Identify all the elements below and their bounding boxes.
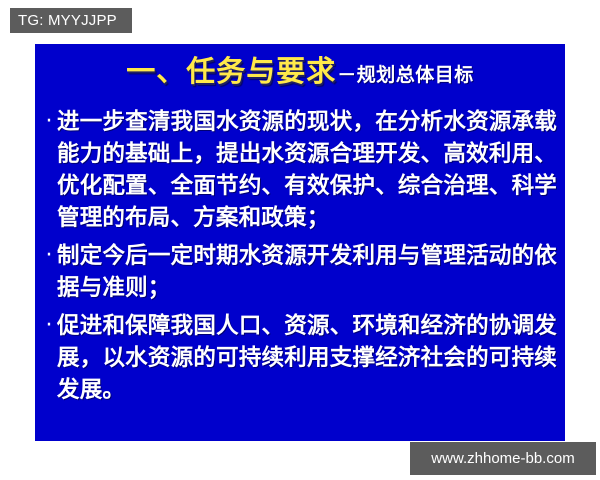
bullet-text: 进一步查清我国水资源的现状，在分析水资源承载能力的基础上，提出水资源合理开发、高… xyxy=(57,106,557,234)
slide-title-main: 一、任务与要求 xyxy=(126,56,336,88)
bullet-text: 促进和保障我国人口、资源、环境和经济的协调发展，以水资源的可持续利用支撑经济社会… xyxy=(57,310,557,406)
slide-title-subtitle: －规划总体目标 xyxy=(337,65,474,86)
bullet-dot-icon: · xyxy=(41,310,57,342)
slide-title: 一、任务与要求－规划总体目标 xyxy=(35,58,565,87)
bullet-dot-icon: · xyxy=(41,240,57,272)
slide-bullet-list: · 进一步查清我国水资源的现状，在分析水资源承载能力的基础上，提出水资源合理开发… xyxy=(41,106,557,412)
tag-badge: TG: MYYJJPP xyxy=(10,8,132,33)
site-watermark: www.zhhome-bb.com xyxy=(410,442,596,475)
bullet-dot-icon: · xyxy=(41,106,57,138)
bullet-text: 制定今后一定时期水资源开发利用与管理活动的依据与准则； xyxy=(57,240,557,304)
list-item: · 进一步查清我国水资源的现状，在分析水资源承载能力的基础上，提出水资源合理开发… xyxy=(41,106,557,234)
list-item: · 制定今后一定时期水资源开发利用与管理活动的依据与准则； xyxy=(41,240,557,304)
presentation-slide: 一、任务与要求－规划总体目标 · 进一步查清我国水资源的现状，在分析水资源承载能… xyxy=(35,44,565,441)
list-item: · 促进和保障我国人口、资源、环境和经济的协调发展，以水资源的可持续利用支撑经济… xyxy=(41,310,557,406)
